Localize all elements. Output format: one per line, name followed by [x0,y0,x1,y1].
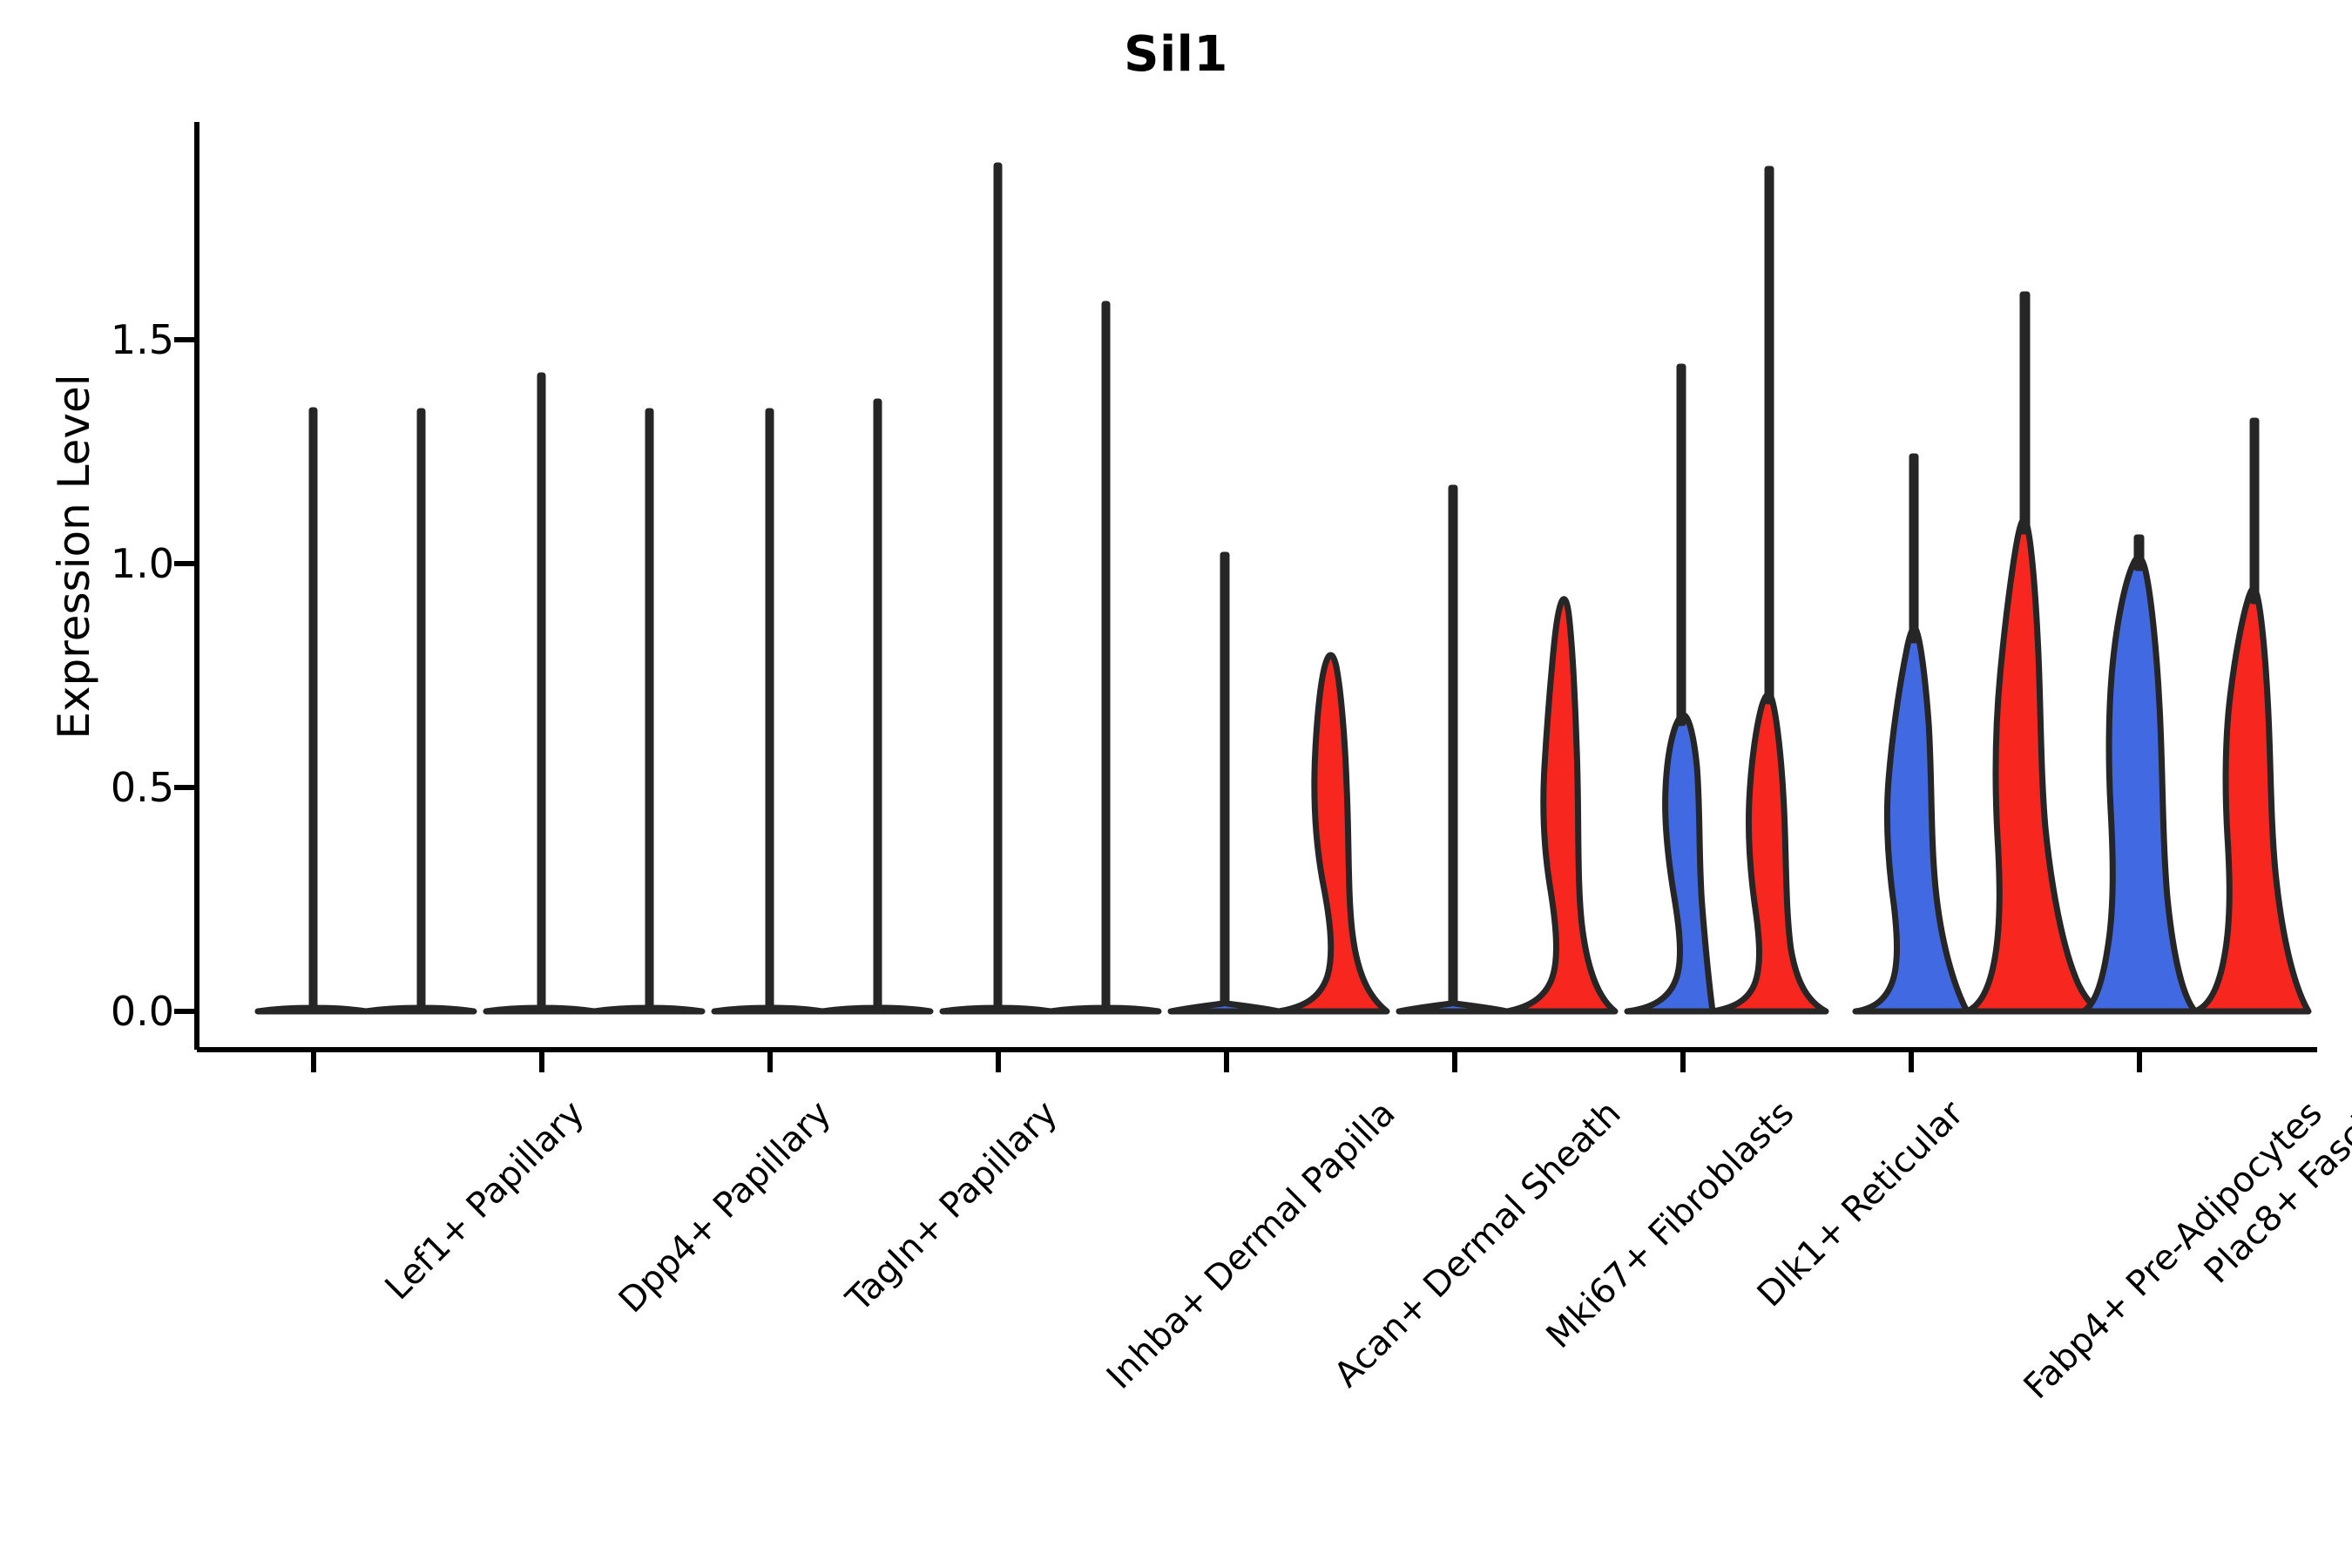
x-tick-label-2: TagIn+ Papillary [839,1093,1065,1320]
x-axis-tick-labels: Lef1+ Papillary Dpp4+ Papillary TagIn+ P… [0,0,2352,1568]
violin-plot-figure: Sil1 Expression Level 1.5 1.0 0.5 0.0 [0,0,2352,1568]
x-tick-label-1: Dpp4+ Papillary [612,1093,839,1321]
x-tick-label-7: Fabp4+ Pre-Adipocytes [2017,1093,2330,1407]
x-tick-label-0: Lef1+ Papillary [377,1093,591,1308]
